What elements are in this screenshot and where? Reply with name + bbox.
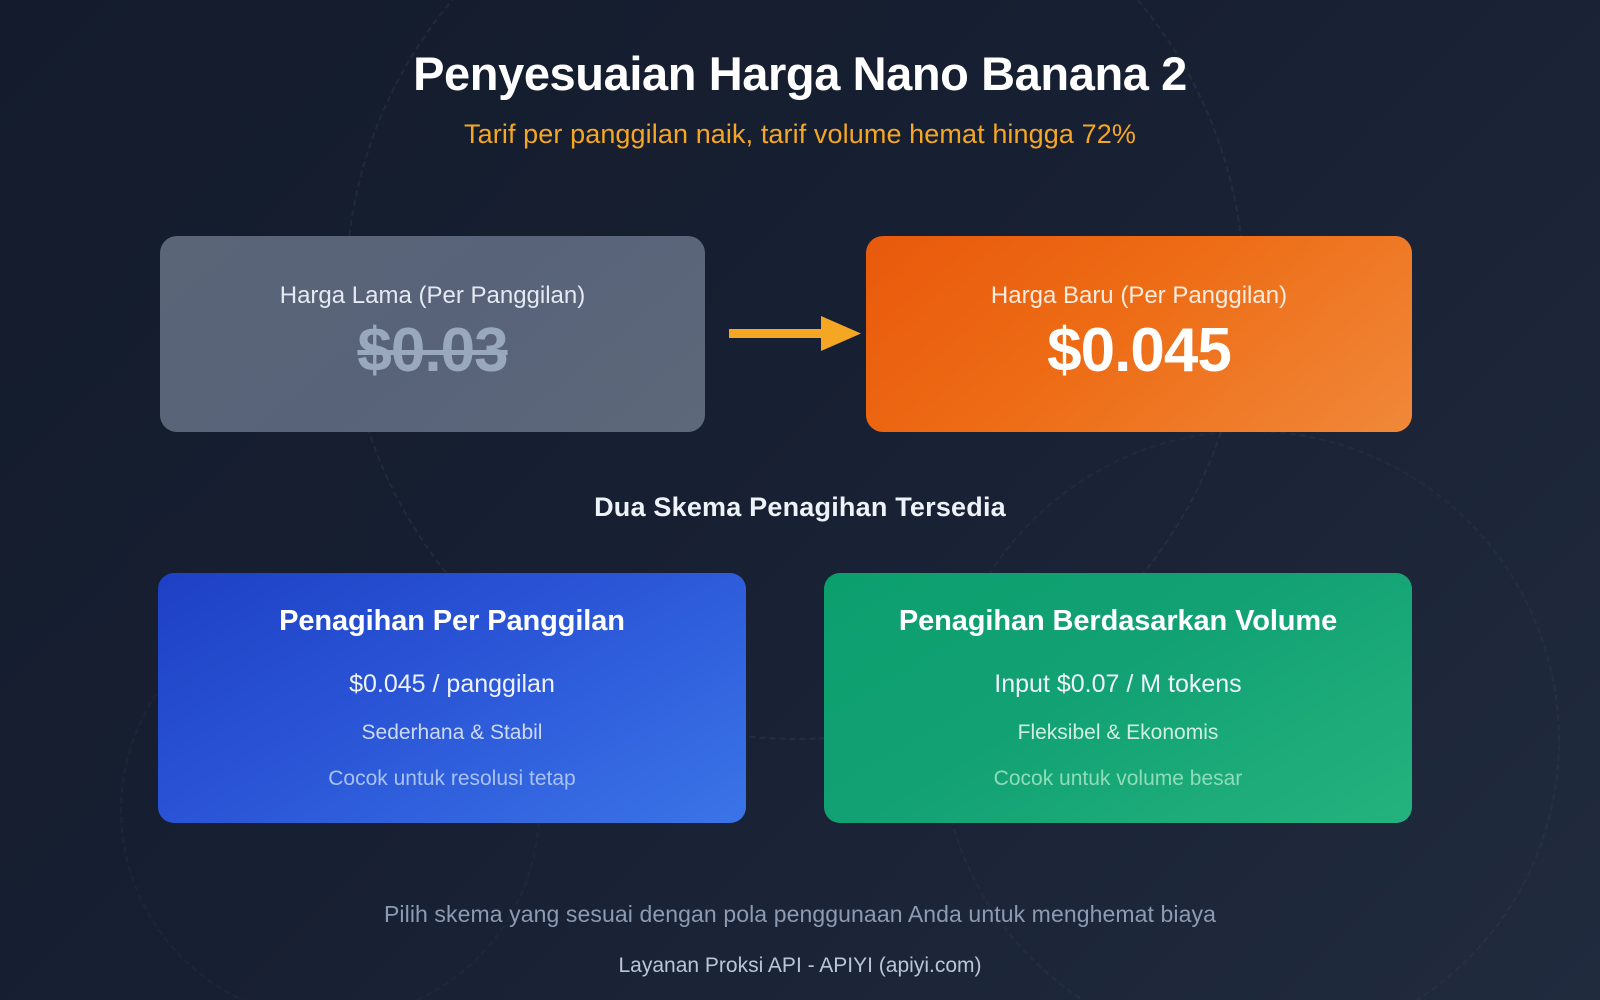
page-subtitle: Tarif per panggilan naik, tarif volume h… (0, 119, 1600, 150)
old-price-card: Harga Lama (Per Panggilan) $0.03 (160, 236, 705, 432)
footer-brand: Layanan Proksi API - APIYI (apiyi.com) (0, 954, 1600, 978)
new-price-card: Harga Baru (Per Panggilan) $0.045 (866, 236, 1412, 432)
new-price-value: $0.045 (1047, 316, 1231, 385)
scheme-price: $0.045 / panggilan (349, 670, 555, 699)
scheme-card-volume[interactable]: Penagihan Berdasarkan Volume Input $0.07… (824, 573, 1412, 823)
arrow-right-icon (725, 310, 865, 358)
scheme-note: Cocok untuk resolusi tetap (328, 767, 575, 791)
section-heading: Dua Skema Penagihan Tersedia (0, 492, 1600, 523)
scheme-tag: Fleksibel & Ekonomis (1018, 721, 1219, 745)
page-header: Penyesuaian Harga Nano Banana 2 Tarif pe… (0, 46, 1600, 150)
billing-schemes: Penagihan Per Panggilan $0.045 / panggil… (158, 573, 1412, 823)
footer-note: Pilih skema yang sesuai dengan pola peng… (0, 901, 1600, 928)
scheme-tag: Sederhana & Stabil (362, 721, 543, 745)
scheme-price: Input $0.07 / M tokens (994, 670, 1241, 699)
scheme-card-per-call[interactable]: Penagihan Per Panggilan $0.045 / panggil… (158, 573, 746, 823)
old-price-value: $0.03 (357, 316, 507, 385)
new-price-label: Harga Baru (Per Panggilan) (991, 282, 1287, 310)
scheme-note: Cocok untuk volume besar (994, 767, 1243, 791)
scheme-title: Penagihan Per Panggilan (279, 605, 625, 638)
page-footer: Pilih skema yang sesuai dengan pola peng… (0, 901, 1600, 978)
scheme-title: Penagihan Berdasarkan Volume (899, 605, 1337, 638)
page-title: Penyesuaian Harga Nano Banana 2 (0, 46, 1600, 101)
old-price-label: Harga Lama (Per Panggilan) (280, 282, 586, 310)
